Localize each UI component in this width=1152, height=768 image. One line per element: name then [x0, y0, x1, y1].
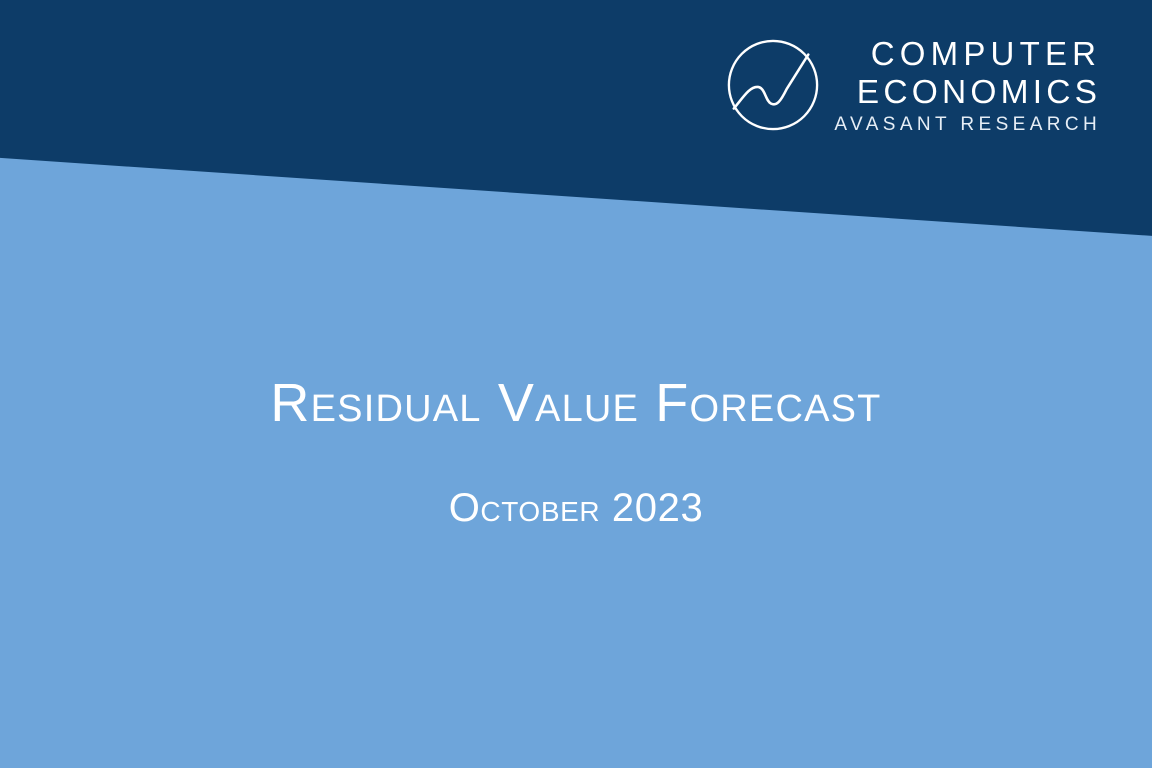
title-slide: COMPUTER ECONOMICS AVASANT RESEARCH Resi… — [0, 0, 1152, 768]
brand-wordmark: COMPUTER ECONOMICS AVASANT RESEARCH — [830, 33, 1101, 137]
brand-line-computer: COMPUTER — [866, 34, 1102, 73]
brand-line-economics: ECONOMICS — [852, 73, 1102, 112]
computer-economics-circle-swoosh-logo — [724, 36, 822, 134]
slide-subtitle: October 2023 — [0, 484, 1152, 532]
title-container: Residual Value Forecast — [0, 372, 1152, 434]
brand-tagline-avasant-research: AVASANT RESEARCH — [830, 113, 1101, 137]
slide-title: Residual Value Forecast — [0, 372, 1152, 434]
brand-logo-lockup: COMPUTER ECONOMICS AVASANT RESEARCH — [724, 33, 1124, 145]
